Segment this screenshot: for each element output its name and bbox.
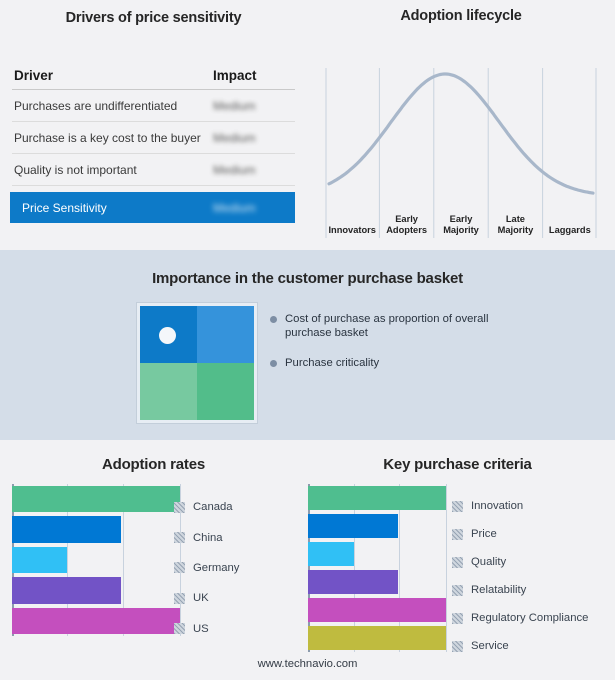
lifecycle-panel: Adoption lifecycle InnovatorsEarlyAdopte… bbox=[307, 0, 615, 250]
footer-url: www.technavio.com bbox=[0, 658, 615, 670]
table-row[interactable]: Purchases are undifferentiatedMedium bbox=[12, 90, 295, 122]
bar-row bbox=[308, 570, 446, 594]
bar-canada[interactable] bbox=[12, 486, 180, 512]
legend-label: Germany bbox=[193, 562, 239, 574]
table-row[interactable]: Purchase is a key cost to the buyerMediu… bbox=[12, 122, 295, 154]
driver-label: Price Sensitivity bbox=[20, 201, 213, 215]
segment-label-line2: Adopters bbox=[386, 225, 427, 236]
bar-relatability[interactable] bbox=[308, 570, 398, 594]
hatched-square-icon bbox=[452, 529, 463, 540]
hatched-square-icon bbox=[174, 532, 185, 543]
lifecycle-segment-late-majority: LateMajority bbox=[488, 196, 542, 238]
segment-label-line1: Late bbox=[506, 214, 525, 225]
lifecycle-segment-innovators: Innovators bbox=[325, 196, 379, 238]
purchase-criteria-legend: InnovationPriceQualityRelatabilityRegula… bbox=[452, 492, 588, 660]
bar-germany[interactable] bbox=[12, 547, 67, 573]
table-header-row: Driver Impact bbox=[12, 62, 295, 90]
bar-uk[interactable] bbox=[12, 577, 121, 603]
legend-label: Canada bbox=[193, 501, 233, 513]
driver-label: Purchases are undifferentiated bbox=[12, 99, 213, 113]
basket-legend-item: Cost of purchase as proportion of overal… bbox=[270, 312, 570, 340]
bar-us[interactable] bbox=[12, 608, 180, 634]
bar-service[interactable] bbox=[308, 626, 446, 650]
hatched-square-icon bbox=[452, 585, 463, 596]
impact-value: Medium bbox=[213, 163, 295, 177]
bar-row bbox=[12, 577, 180, 603]
table-body: Purchases are undifferentiatedMediumPurc… bbox=[12, 90, 295, 223]
impact-value: Medium bbox=[213, 201, 295, 215]
chart-gridline bbox=[446, 484, 447, 652]
bar-row bbox=[308, 514, 446, 538]
infographic-page: Drivers of price sensitivity Driver Impa… bbox=[0, 0, 615, 680]
legend-label: Regulatory Compliance bbox=[471, 612, 588, 624]
legend-label: Service bbox=[471, 640, 509, 652]
hatched-square-icon bbox=[452, 613, 463, 624]
bar-row bbox=[308, 542, 446, 566]
impact-value-text: Medium bbox=[213, 201, 256, 215]
table-row-selected[interactable]: Price SensitivityMedium bbox=[10, 192, 295, 223]
column-header-impact: Impact bbox=[213, 68, 295, 83]
impact-value: Medium bbox=[213, 99, 295, 113]
impact-value-text: Medium bbox=[213, 163, 256, 177]
hatched-square-icon bbox=[174, 593, 185, 604]
driver-label: Purchase is a key cost to the buyer bbox=[12, 131, 213, 145]
hatched-square-icon bbox=[174, 562, 185, 573]
bar-row bbox=[12, 547, 180, 573]
bar-china[interactable] bbox=[12, 516, 121, 542]
lifecycle-segment-early-adopters: EarlyAdopters bbox=[379, 196, 433, 238]
legend-label: Innovation bbox=[471, 500, 523, 512]
bullet-dot-icon bbox=[270, 360, 277, 367]
impact-value-text: Medium bbox=[213, 99, 256, 113]
bar-row bbox=[308, 626, 446, 650]
legend-item[interactable]: Relatability bbox=[452, 576, 588, 604]
lifecycle-chart: InnovatorsEarlyAdoptersEarlyMajorityLate… bbox=[325, 58, 597, 238]
bar-row bbox=[12, 486, 180, 512]
bar-row bbox=[308, 598, 446, 622]
bar-price[interactable] bbox=[308, 514, 398, 538]
bullet-dot-icon bbox=[270, 316, 277, 323]
hatched-square-icon bbox=[452, 641, 463, 652]
hatched-square-icon bbox=[452, 501, 463, 512]
bar-row bbox=[12, 608, 180, 634]
bell-curve-path bbox=[329, 74, 593, 193]
segment-label-line2: Innovators bbox=[328, 225, 376, 236]
matrix-quadrant-top-right[interactable] bbox=[197, 306, 254, 363]
table-row[interactable]: Quality is not importantMedium bbox=[12, 154, 295, 186]
impact-value: Medium bbox=[213, 131, 295, 145]
segment-label-line2: Majority bbox=[443, 225, 479, 236]
legend-label: China bbox=[193, 532, 223, 544]
legend-item[interactable]: Price bbox=[452, 520, 588, 548]
adoption-rates-legend: CanadaChinaGermanyUKUS bbox=[174, 492, 239, 644]
matrix-quadrant-top-left[interactable] bbox=[140, 306, 197, 363]
driver-label: Quality is not important bbox=[12, 163, 213, 177]
legend-item[interactable]: Germany bbox=[174, 553, 239, 583]
segment-label-line2: Laggards bbox=[549, 225, 591, 236]
legend-item[interactable]: UK bbox=[174, 583, 239, 613]
matrix-position-marker-icon bbox=[159, 327, 176, 344]
adoption-rates-chart bbox=[12, 484, 180, 636]
legend-label: US bbox=[193, 623, 209, 635]
basket-legend-label: Purchase criticality bbox=[285, 356, 379, 370]
legend-item[interactable]: Quality bbox=[452, 548, 588, 576]
lifecycle-segment-early-majority: EarlyMajority bbox=[434, 196, 488, 238]
legend-item[interactable]: Service bbox=[452, 632, 588, 660]
adoption-rates-panel: Adoption rates CanadaChinaGermanyUKUS bbox=[0, 440, 307, 680]
lifecycle-panel-title: Adoption lifecycle bbox=[307, 8, 615, 24]
legend-item[interactable]: China bbox=[174, 522, 239, 552]
bar-row bbox=[12, 516, 180, 542]
legend-label: Price bbox=[471, 528, 497, 540]
legend-label: UK bbox=[193, 592, 209, 604]
hatched-square-icon bbox=[174, 502, 185, 513]
drivers-panel: Drivers of price sensitivity Driver Impa… bbox=[0, 0, 307, 250]
lifecycle-segment-laggards: Laggards bbox=[543, 196, 597, 238]
drivers-panel-title: Drivers of price sensitivity bbox=[0, 10, 307, 26]
matrix-quadrant-bottom-left[interactable] bbox=[140, 363, 197, 420]
legend-label: Quality bbox=[471, 556, 506, 568]
bar-regulatory-compliance[interactable] bbox=[308, 598, 446, 622]
bar-row bbox=[308, 486, 446, 510]
purchase-criteria-chart bbox=[308, 484, 446, 652]
legend-item[interactable]: Canada bbox=[174, 492, 239, 522]
purchase-criteria-panel: Key purchase criteria InnovationPriceQua… bbox=[300, 440, 615, 680]
segment-label-line2: Majority bbox=[498, 225, 534, 236]
drivers-table: Driver Impact Purchases are undifferenti… bbox=[12, 62, 295, 223]
hatched-square-icon bbox=[452, 557, 463, 568]
basket-legend-label: Cost of purchase as proportion of overal… bbox=[285, 312, 500, 340]
quadrant-matrix bbox=[140, 306, 254, 420]
hatched-square-icon bbox=[174, 623, 185, 634]
bar-innovation[interactable] bbox=[308, 486, 446, 510]
basket-legend-item: Purchase criticality bbox=[270, 356, 570, 370]
purchase-criteria-title: Key purchase criteria bbox=[300, 456, 615, 473]
basket-legend: Cost of purchase as proportion of overal… bbox=[270, 312, 570, 386]
column-header-driver: Driver bbox=[12, 68, 213, 83]
basket-panel-title: Importance in the customer purchase bask… bbox=[0, 270, 615, 287]
bar-quality[interactable] bbox=[308, 542, 354, 566]
quadrant-matrix-frame bbox=[136, 302, 258, 424]
legend-item[interactable]: Regulatory Compliance bbox=[452, 604, 588, 632]
legend-label: Relatability bbox=[471, 584, 526, 596]
impact-value-text: Medium bbox=[213, 131, 256, 145]
legend-item[interactable]: Innovation bbox=[452, 492, 588, 520]
segment-label-line1: Early bbox=[450, 214, 473, 225]
segment-label-line1: Early bbox=[395, 214, 418, 225]
adoption-rates-title: Adoption rates bbox=[0, 456, 307, 473]
lifecycle-segment-labels: InnovatorsEarlyAdoptersEarlyMajorityLate… bbox=[325, 196, 597, 238]
legend-item[interactable]: US bbox=[174, 614, 239, 644]
matrix-quadrant-bottom-right[interactable] bbox=[197, 363, 254, 420]
